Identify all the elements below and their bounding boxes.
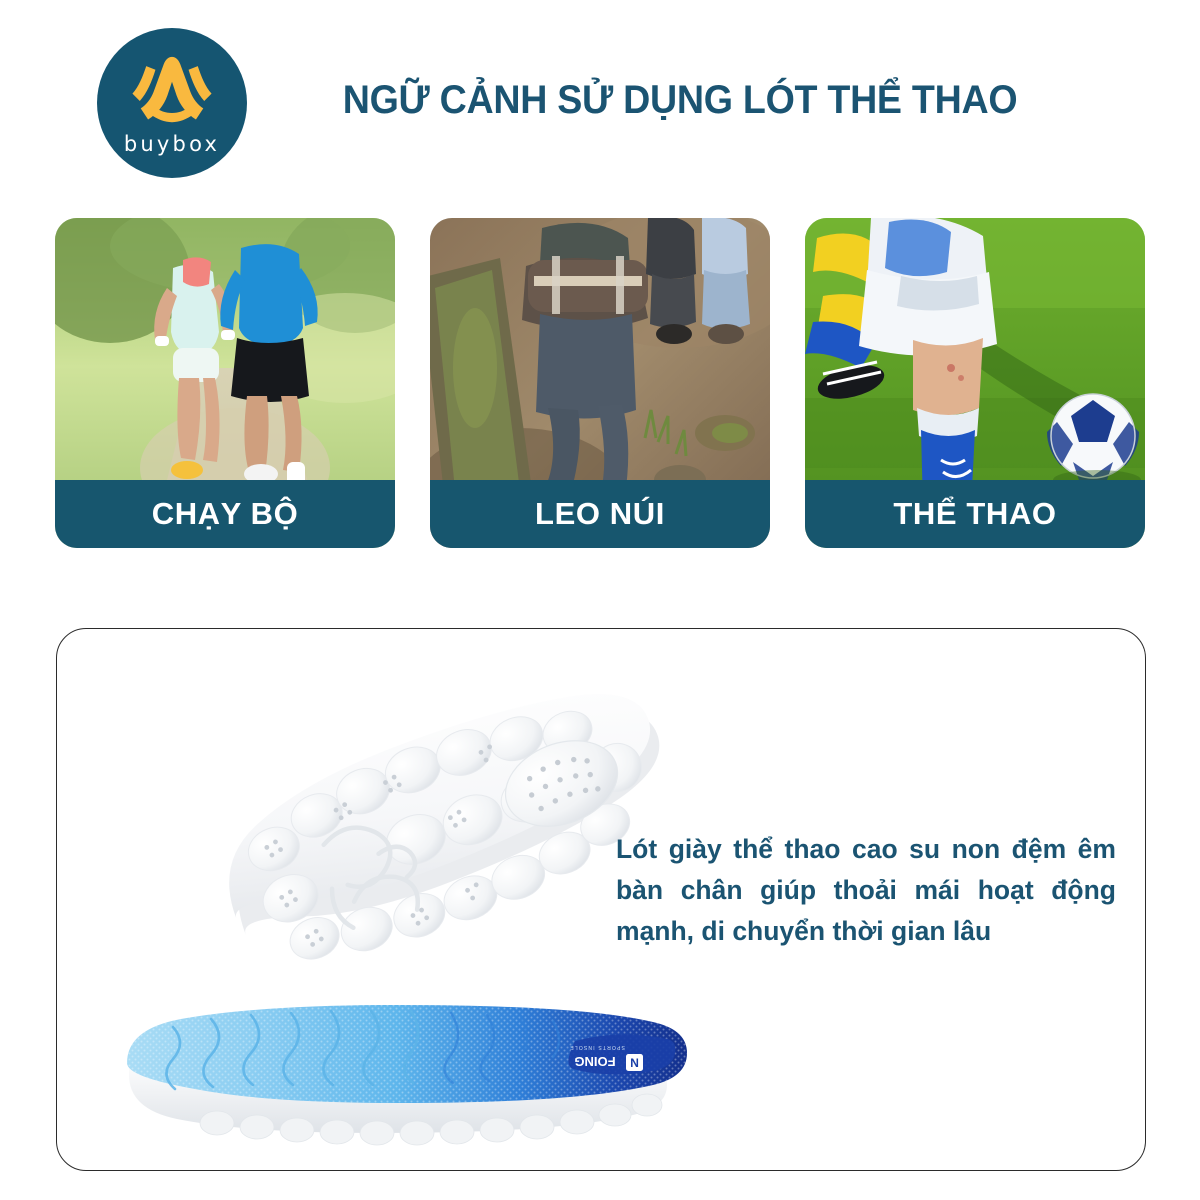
card-hiking[interactable]: LEO NÚI bbox=[430, 218, 770, 548]
usage-context-cards: CHẠY BỘ bbox=[55, 218, 1145, 548]
white-memory-foam-insole bbox=[165, 687, 685, 1017]
product-description: Lót giày thể thao cao su non đệm êm bàn … bbox=[616, 829, 1116, 952]
buybox-wordmark: buybox bbox=[124, 132, 220, 156]
header: buybox NGỮ CẢNH SỬ DỤNG LÓT THỂ THAO bbox=[0, 0, 1200, 200]
buybox-mark-icon bbox=[126, 53, 218, 127]
card-running[interactable]: CHẠY BỘ bbox=[55, 218, 395, 548]
card-sports[interactable]: THỂ THAO bbox=[805, 218, 1145, 548]
svg-text:N: N bbox=[630, 1056, 639, 1070]
card-label-running: CHẠY BỘ bbox=[55, 480, 395, 548]
page-title: NGỮ CẢNH SỬ DỤNG LÓT THỂ THAO bbox=[323, 0, 1037, 200]
product-description-text: Lót giày thể thao cao su non đệm êm bàn … bbox=[616, 834, 1116, 946]
insole-brand-tag: FOING bbox=[574, 1054, 615, 1069]
blue-gradient-insole: N FOING SPORTS INSOLE bbox=[107, 1001, 687, 1151]
product-detail-panel: N FOING SPORTS INSOLE Lót giày thể thao … bbox=[56, 628, 1146, 1171]
svg-text:SPORTS INSOLE: SPORTS INSOLE bbox=[569, 1044, 625, 1050]
card-label-hiking: LEO NÚI bbox=[430, 480, 770, 548]
buybox-logo: buybox bbox=[97, 28, 247, 178]
card-label-sports: THỂ THAO bbox=[805, 480, 1145, 548]
